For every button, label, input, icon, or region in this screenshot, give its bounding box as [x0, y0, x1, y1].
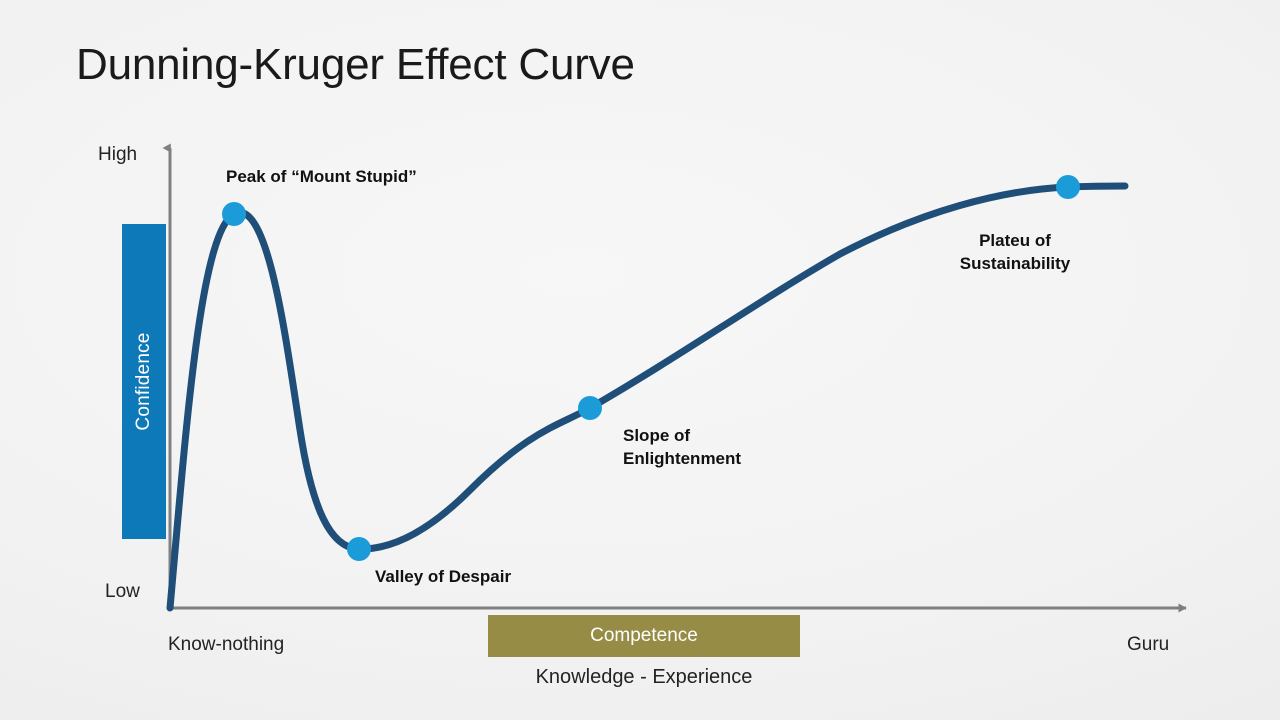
confidence-bar-label: Confidence — [122, 224, 166, 539]
annotation-peak-of-mount-stupid: Peak of “Mount Stupid” — [226, 165, 417, 188]
confidence-axis-bar: Confidence — [122, 224, 166, 539]
marker-plateau-of-sustainability[interactable] — [1056, 175, 1080, 199]
dunning-kruger-chart — [0, 0, 1280, 720]
competence-bar-label: Competence — [590, 625, 698, 647]
x-axis-start-label: Know-nothing — [168, 634, 284, 656]
annotation-valley-of-despair: Valley of Despair — [375, 565, 511, 588]
annotation-plateau-line-1: Plateu of — [954, 229, 1076, 252]
annotation-slope-line-1: Slope of — [623, 424, 741, 447]
x-axis-caption: Knowledge - Experience — [488, 666, 800, 689]
y-axis-low-label: Low — [105, 581, 140, 603]
annotation-slope-of-enlightenment: Slope of Enlightenment — [623, 424, 741, 470]
x-axis-end-label: Guru — [1127, 634, 1169, 656]
slide-canvas: Dunning-Kruger Effect Curve High Low Kno… — [0, 0, 1280, 720]
y-axis-high-label: High — [98, 144, 137, 166]
marker-peak-of-mount-stupid[interactable] — [222, 202, 246, 226]
annotation-slope-line-2: Enlightenment — [623, 447, 741, 470]
marker-valley-of-despair[interactable] — [347, 537, 371, 561]
annotation-plateau-line-2: Sustainability — [954, 252, 1076, 275]
annotation-plateau-of-sustainability: Plateu of Sustainability — [954, 229, 1076, 275]
competence-axis-bar: Competence — [488, 615, 800, 657]
marker-slope-of-enlightenment[interactable] — [578, 396, 602, 420]
